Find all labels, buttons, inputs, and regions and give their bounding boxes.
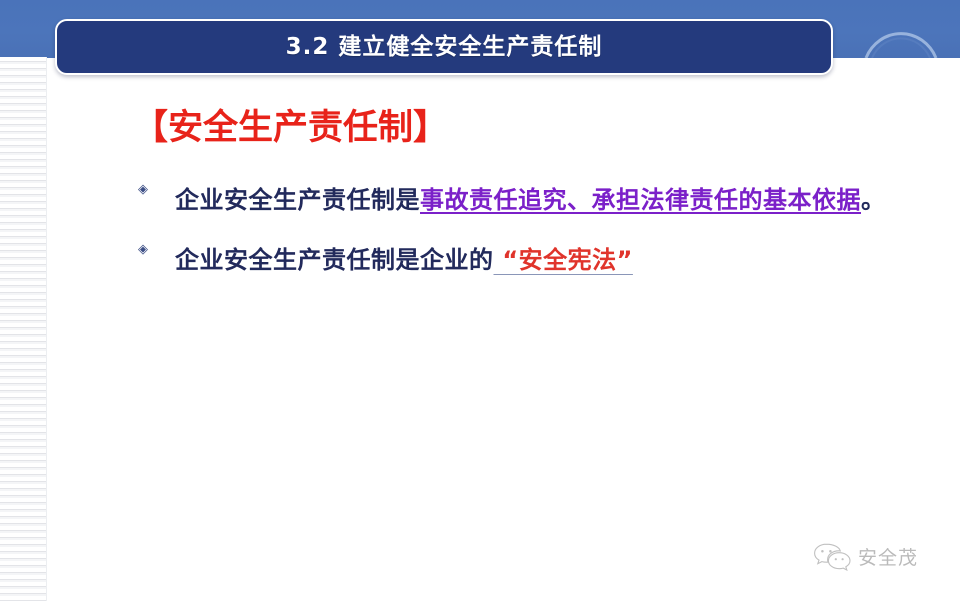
watermark-label: 安全茂 <box>858 543 918 570</box>
bullet-2-segment-1: 企业安全生产责任制是企业的 <box>175 246 494 274</box>
list-item: ◈ 企业安全生产责任制是事故责任追究、承担法律责任的基本依据。 <box>133 173 923 227</box>
section-heading: 【安全生产责任制】 <box>133 109 448 148</box>
diamond-bullet-icon: ◈ <box>136 243 150 257</box>
bullet-2-segment-2: “安全宪法” <box>494 246 633 274</box>
watermark: 安全茂 <box>812 541 918 571</box>
list-item-text: 企业安全生产责任制是事故责任追究、承担法律责任的基本依据。 <box>175 173 923 227</box>
bullet-1-segment-1: 企业安全生产责任制是 <box>175 186 420 214</box>
diamond-bullet-icon: ◈ <box>136 183 150 197</box>
list-item: ◈ 企业安全生产责任制是企业的 “安全宪法” <box>133 233 923 287</box>
bullet-list: ◈ 企业安全生产责任制是事故责任追究、承担法律责任的基本依据。 ◈ 企业安全生产… <box>133 173 923 293</box>
slide-title-bar: 3.2 建立健全安全生产责任制 <box>55 19 833 75</box>
slide-title-text: 3.2 建立健全安全生产责任制 <box>286 36 603 59</box>
wechat-icon <box>812 541 852 571</box>
slide-canvas: 3.2 建立健全安全生产责任制 【安全生产责任制】 ◈ 企业安全生产责任制是事故… <box>0 0 960 601</box>
bullet-1-segment-3: 。 <box>861 186 886 214</box>
list-item-text: 企业安全生产责任制是企业的 “安全宪法” <box>175 233 923 287</box>
bullet-1-segment-2: 事故责任追究、承担法律责任的基本依据 <box>420 186 861 214</box>
slide-content: 【安全生产责任制】 ◈ 企业安全生产责任制是事故责任追究、承担法律责任的基本依据… <box>0 95 960 515</box>
